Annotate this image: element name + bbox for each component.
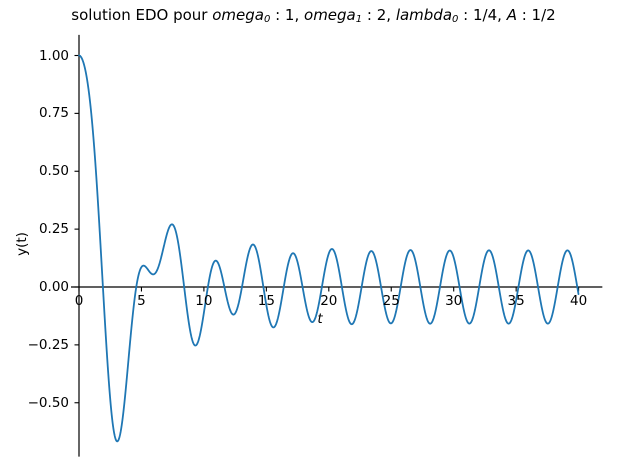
y-tick-label-5: −0.25: [5, 337, 69, 353]
x-tick-label-3: 15: [246, 293, 286, 309]
x-tick-label-1: 5: [121, 293, 161, 309]
y-tick-label-0: 1.00: [5, 48, 69, 64]
y-tick-label-2: 0.50: [5, 163, 69, 179]
x-tick-label-5: 25: [371, 293, 411, 309]
x-tick-label-7: 35: [496, 293, 536, 309]
y-tick-label-1: 0.75: [5, 105, 69, 121]
x-tick-marks: [79, 287, 579, 292]
y-tick-marks: [75, 56, 80, 403]
x-axis-label: t: [290, 311, 350, 327]
plot-svg: [0, 0, 627, 470]
y-axis-label: y(t): [14, 214, 30, 274]
axis-spines: [71, 35, 602, 457]
data-line-yt: [79, 56, 579, 442]
plot-area: 1.000.750.500.250.00−0.25−0.500510152025…: [0, 0, 627, 470]
y-tick-label-6: −0.50: [5, 395, 69, 411]
x-tick-label-8: 40: [559, 293, 599, 309]
x-tick-label-0: 0: [59, 293, 99, 309]
x-tick-label-6: 30: [434, 293, 474, 309]
x-tick-label-4: 20: [309, 293, 349, 309]
figure-canvas: solution EDO pour omega0 : 1, omega1 : 2…: [0, 0, 627, 470]
x-tick-label-2: 10: [184, 293, 224, 309]
